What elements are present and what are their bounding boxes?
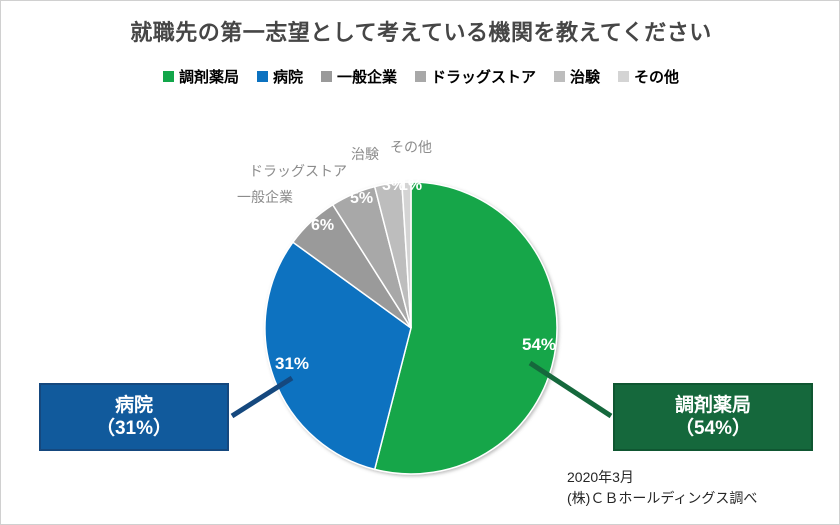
callout-box-hospital[interactable]: 病院 （31%） [39,383,229,451]
callout-pharmacy-value: （54%） [675,417,751,440]
category-label-trial: 治験 [351,144,379,164]
source-date: 2020年3月 [567,467,757,488]
pie-slices [265,182,557,474]
slice-label-drugstore: 5% [350,190,373,208]
source-note: 2020年3月 (株)ＣＢホールディングス調べ [567,467,757,509]
category-label-company: 一般企業 [237,187,293,207]
callout-box-pharmacy[interactable]: 調剤薬局 （54%） [613,383,813,451]
source-org: (株)ＣＢホールディングス調べ [567,488,757,509]
slice-label-other: 1% [399,177,422,195]
chart-container: 就職先の第一志望として考えている機関を教えてください 調剤薬局 病院 一般企業 … [0,0,840,525]
slice-label-hospital: 31% [275,354,309,374]
callout-pharmacy-title: 調剤薬局 [675,394,751,417]
slice-label-company: 6% [311,217,334,235]
slice-label-pharmacy: 54% [522,335,556,355]
category-label-drugstore: ドラッグストア [249,161,347,181]
callout-hospital-value: （31%） [96,417,172,440]
category-label-other: その他 [390,137,432,157]
callout-hospital-title: 病院 [115,394,153,417]
